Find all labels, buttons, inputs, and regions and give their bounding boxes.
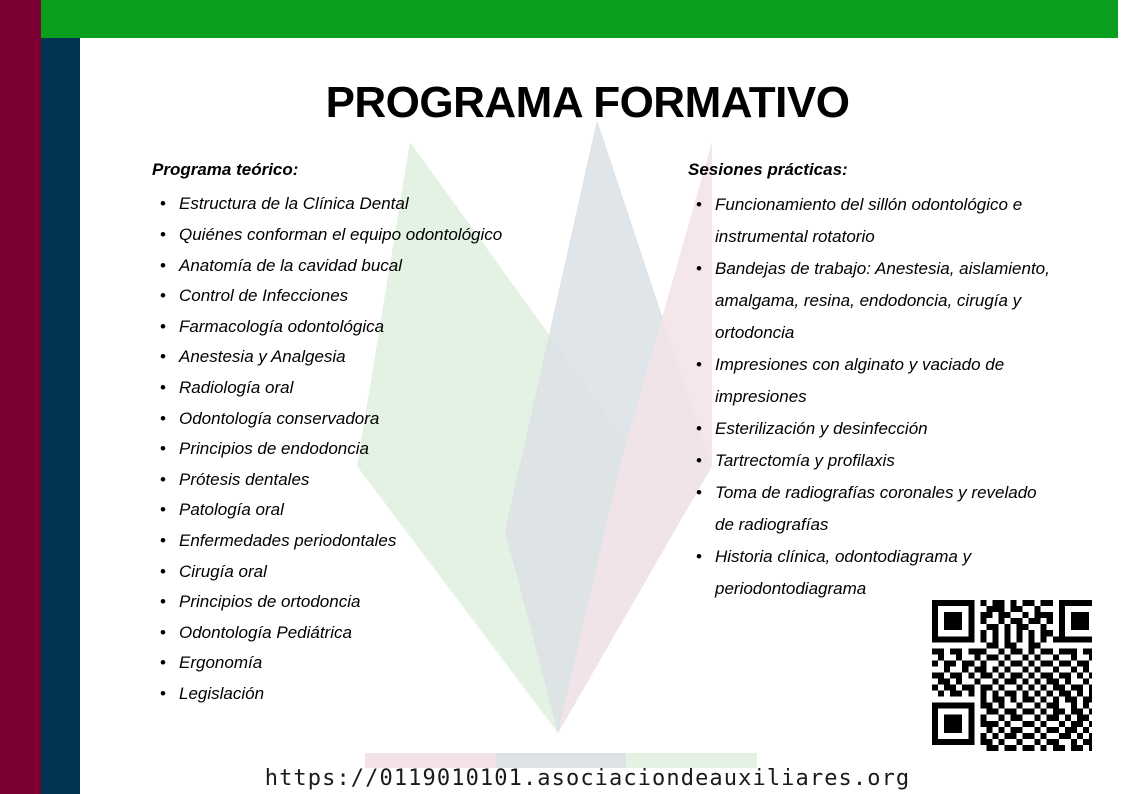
header-accent-green: [41, 0, 1118, 38]
list-item: Quiénes conforman el equipo odontológico: [152, 220, 572, 251]
qr-code-icon: [923, 591, 1092, 760]
list-item: Esterilización y desinfección: [688, 413, 1058, 445]
list-item: Control de Infecciones: [152, 281, 572, 312]
list-item: Prótesis dentales: [152, 465, 572, 496]
slide-canvas: PROGRAMA FORMATIVO Programa teórico: Est…: [0, 0, 1123, 794]
practical-sessions-list: Funcionamiento del sillón odontológico e…: [688, 189, 1058, 605]
sidebar-accent-navy: [41, 38, 80, 794]
list-item: Odontología Pediátrica: [152, 618, 572, 649]
list-item: Ergonomía: [152, 648, 572, 679]
list-item: Anestesia y Analgesia: [152, 342, 572, 373]
qr-code[interactable]: [923, 591, 1092, 760]
list-item: Bandejas de trabajo: Anestesia, aislamie…: [688, 253, 1058, 349]
practical-sessions-column: Sesiones prácticas: Funcionamiento del s…: [688, 160, 1058, 605]
list-item: Impresiones con alginato y vaciado de im…: [688, 349, 1058, 413]
list-item: Radiología oral: [152, 373, 572, 404]
list-item: Funcionamiento del sillón odontológico e…: [688, 189, 1058, 253]
practical-sessions-heading: Sesiones prácticas:: [688, 160, 1058, 180]
list-item: Enfermedades periodontales: [152, 526, 572, 557]
list-item: Legislación: [152, 679, 572, 710]
list-item: Principios de ortodoncia: [152, 587, 572, 618]
theory-program-column: Programa teórico: Estructura de la Clíni…: [152, 160, 572, 709]
list-item: Principios de endodoncia: [152, 434, 572, 465]
list-item: Farmacología odontológica: [152, 312, 572, 343]
page-title: PROGRAMA FORMATIVO: [80, 80, 1095, 126]
footer-url[interactable]: https://0119010101.asociaciondeauxiliare…: [80, 766, 1095, 791]
list-item: Estructura de la Clínica Dental: [152, 189, 572, 220]
theory-program-list: Estructura de la Clínica Dental Quiénes …: [152, 189, 572, 709]
list-item: Cirugía oral: [152, 557, 572, 588]
sidebar-accent-maroon: [0, 0, 41, 794]
list-item: Patología oral: [152, 495, 572, 526]
list-item: Odontología conservadora: [152, 404, 572, 435]
list-item: Toma de radiografías coronales y revelad…: [688, 477, 1058, 541]
list-item: Tartrectomía y profilaxis: [688, 445, 1058, 477]
list-item: Anatomía de la cavidad bucal: [152, 251, 572, 282]
theory-program-heading: Programa teórico:: [152, 160, 572, 180]
